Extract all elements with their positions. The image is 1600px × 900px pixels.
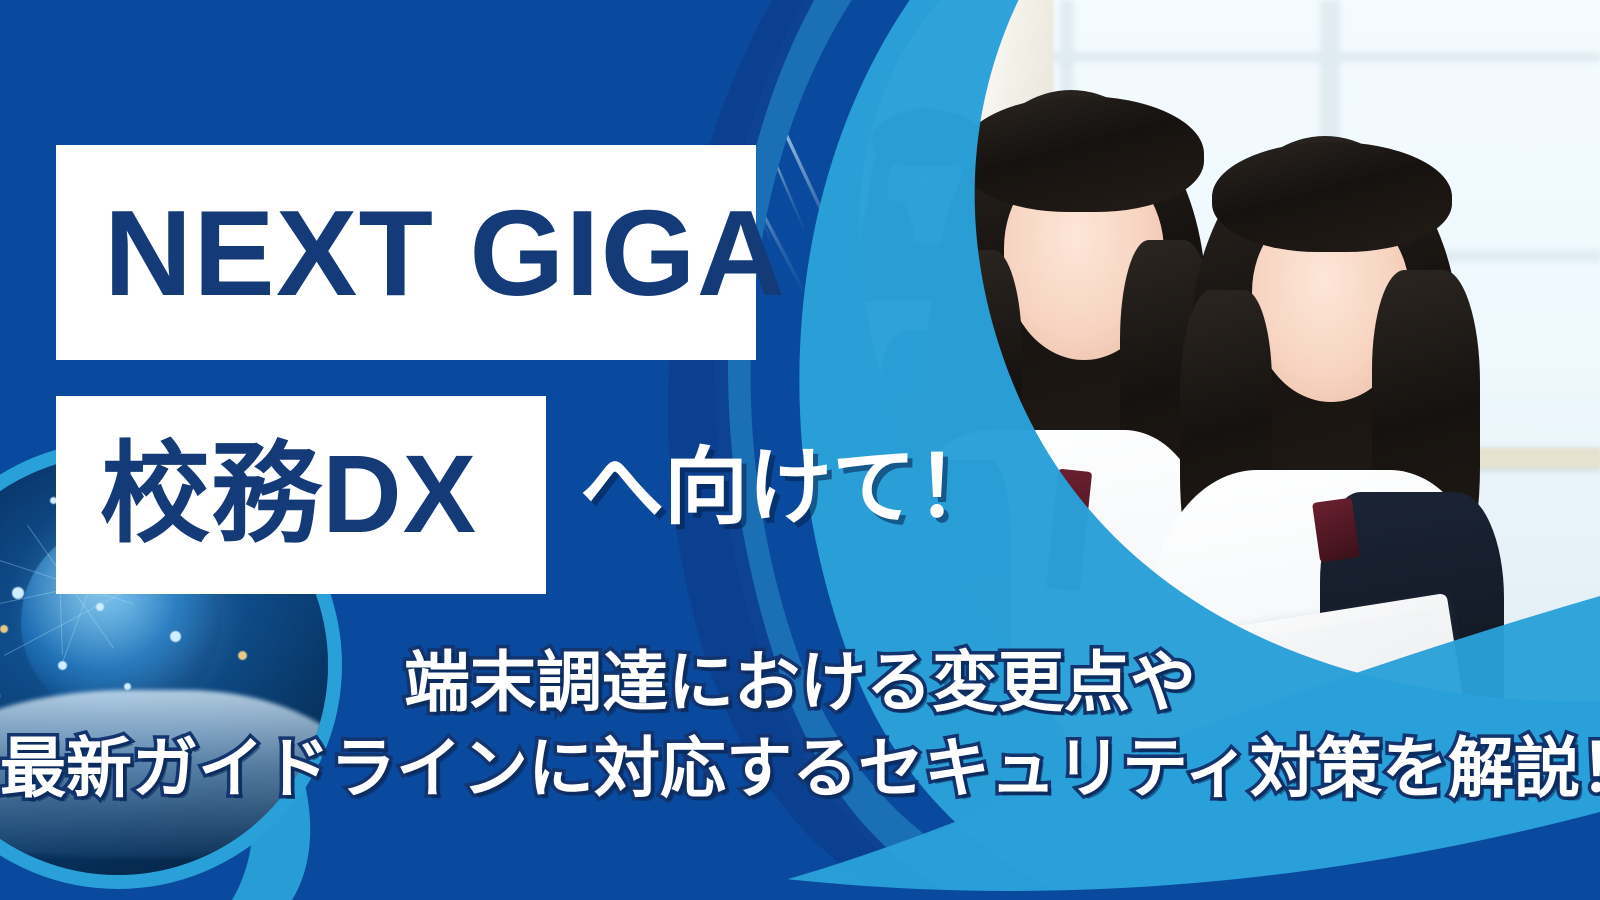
banner-canvas: NEXT GIGA 校務DX へ向けて！ 端末調達における変更点や 最新ガイドラ… (0, 0, 1600, 900)
headline-box-primary: NEXT GIGA (56, 145, 756, 360)
subtitle-line-2: 最新ガイドラインに対応するセキュリティ対策を解説！ (0, 732, 1600, 806)
headline-suffix: へ向けて！ (580, 445, 1000, 529)
subtitle-line-1: 端末調達における変更点や (0, 646, 1600, 720)
headline-box-secondary: 校務DX (56, 396, 546, 594)
headline-komu-dx: 校務DX (100, 440, 477, 550)
headline-next-giga: NEXT GIGA (104, 192, 786, 314)
